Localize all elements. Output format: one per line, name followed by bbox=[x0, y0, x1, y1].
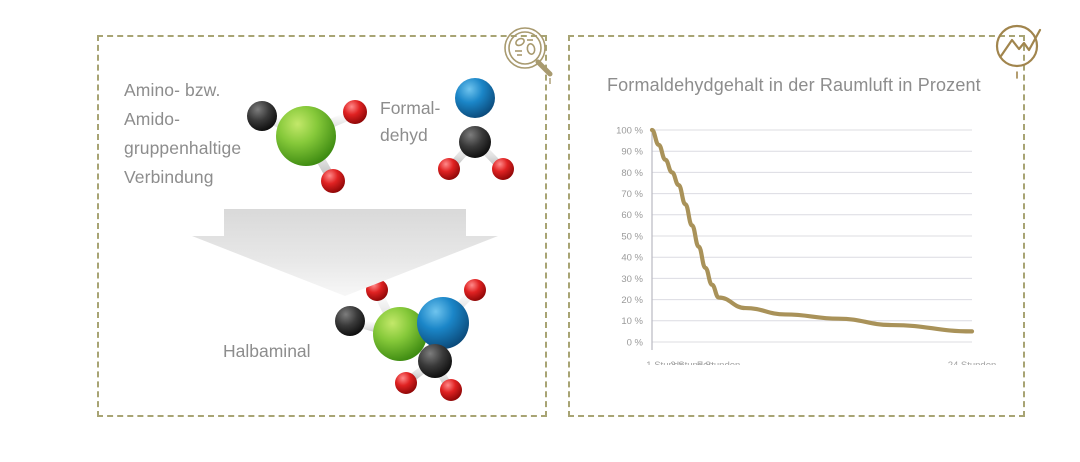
atom-oxygen bbox=[321, 169, 345, 193]
screenshot-stage: Amino- bzw. Amido- gruppenhaltige Verbin… bbox=[0, 0, 1080, 462]
atom-carbon bbox=[335, 306, 365, 336]
y-axis-tick-label: 10 % bbox=[621, 316, 643, 327]
atom-carbon bbox=[459, 126, 491, 158]
y-axis-tick-label: 60 % bbox=[621, 210, 643, 221]
atom-carbon bbox=[418, 344, 452, 378]
y-axis-tick-label: 90 % bbox=[621, 147, 643, 158]
y-axis-tick-label: 0 % bbox=[627, 337, 644, 348]
trend-chart-icon bbox=[989, 20, 1051, 82]
y-axis-tick-label: 20 % bbox=[621, 295, 643, 306]
x-axis-tick-label: 5 Stunden bbox=[697, 360, 740, 365]
amino-compound-molecule bbox=[238, 84, 373, 199]
down-arrow-icon bbox=[190, 203, 500, 298]
y-axis-tick-label: 50 % bbox=[621, 231, 643, 242]
y-axis-tick-label: 80 % bbox=[621, 168, 643, 179]
y-axis-tick-label: 70 % bbox=[621, 189, 643, 200]
atom-hydrogen bbox=[438, 158, 460, 180]
y-axis-tick-label: 40 % bbox=[621, 253, 643, 264]
y-axis-tick-label: 100 % bbox=[616, 125, 643, 136]
x-axis-tick-label: 24 Stunden bbox=[948, 360, 997, 365]
atom-hydrogen bbox=[492, 158, 514, 180]
atom-hydrogen bbox=[440, 379, 462, 401]
atom-oxygen bbox=[455, 78, 495, 118]
atom-oxygen bbox=[343, 100, 367, 124]
formaldehyde-molecule bbox=[437, 70, 517, 188]
chart-series-line bbox=[652, 130, 972, 331]
chart-canvas: 100 %90 %80 %70 %60 %50 %40 %30 %20 %10 … bbox=[600, 120, 1000, 365]
arrow-shape bbox=[192, 209, 498, 296]
magnifier-molecule-icon bbox=[500, 24, 562, 86]
atom-carbon bbox=[247, 101, 277, 131]
atom-oxygen bbox=[417, 297, 469, 349]
y-axis-tick-label: 30 % bbox=[621, 274, 643, 285]
atom-hydrogen bbox=[395, 372, 417, 394]
chart-title: Formaldehydgehalt in der Raumluft in Pro… bbox=[607, 75, 1007, 96]
atom-nitrogen bbox=[276, 106, 336, 166]
line-chart: 100 %90 %80 %70 %60 %50 %40 %30 %20 %10 … bbox=[600, 120, 1000, 365]
